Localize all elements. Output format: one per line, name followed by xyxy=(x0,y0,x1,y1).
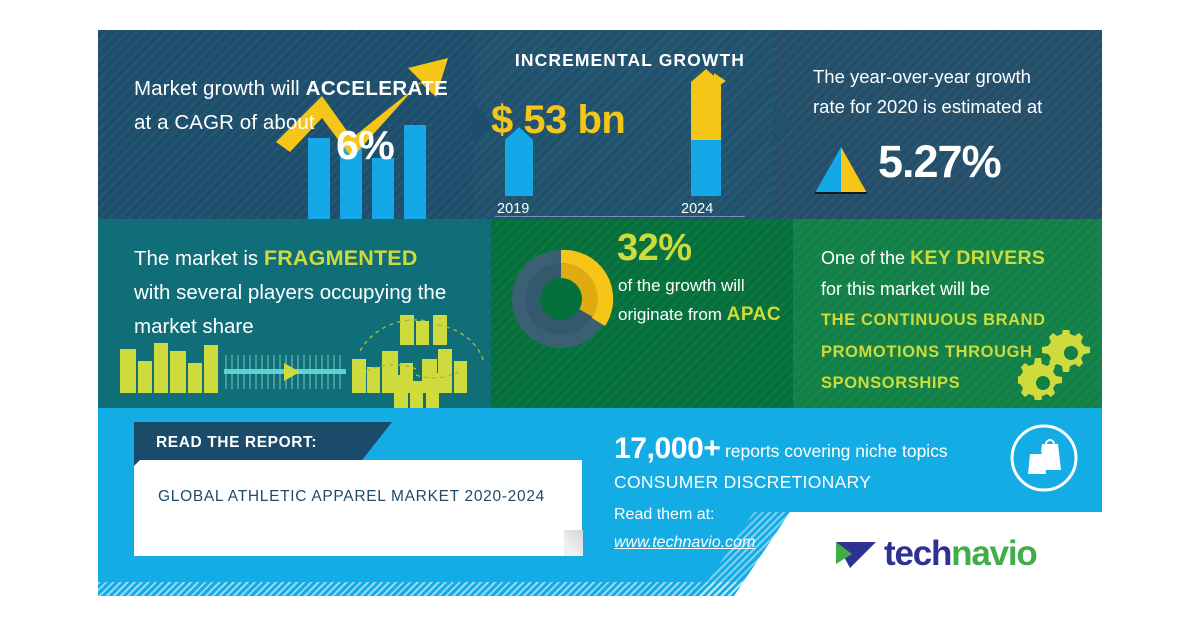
panel-fragmented: The market is FRAGMENTED with several pl… xyxy=(98,219,491,408)
read-them-at-label: Read them at: xyxy=(614,506,715,524)
reports-count-line: 17,000+ reports covering niche topics xyxy=(614,432,948,466)
key-driver-line-1: THE CONTINUOUS BRAND xyxy=(821,311,1046,329)
technavio-logo: tech navio xyxy=(834,534,1037,574)
fragmented-text-b: FRAGMENTED xyxy=(264,246,418,270)
chevron-divider-1 xyxy=(473,30,503,219)
yoy-text-line1: The year-over-year growth xyxy=(813,66,1031,87)
apac-text-a: of the growth will originate from xyxy=(618,276,745,324)
key-drivers-text-a: One of the xyxy=(821,248,910,268)
report-title: GLOBAL ATHLETIC APPAREL MARKET 2020-2024 xyxy=(158,485,558,508)
reports-caption: reports covering niche topics xyxy=(725,441,948,461)
panel-incremental-growth: INCREMENTAL GROWTH $ 53 bn 2019 2024 xyxy=(473,30,773,219)
brand-name-part2: navio xyxy=(951,534,1036,574)
cagr-text-c: at a CAGR of about xyxy=(134,111,315,134)
apac-value: 32% xyxy=(617,227,692,270)
infographic-board: Market growth will ACCELERATE at a CAGR … xyxy=(98,30,1102,596)
report-category: CONSUMER DISCRETIONARY xyxy=(614,472,871,493)
market-fragmentation-icon xyxy=(108,315,491,408)
reports-count: 17,000+ xyxy=(614,432,720,465)
row-middle: The market is FRAGMENTED with several pl… xyxy=(98,219,1102,408)
panel-cagr: Market growth will ACCELERATE at a CAGR … xyxy=(98,30,473,219)
cagr-text: Market growth will ACCELERATE at a CAGR … xyxy=(134,72,464,140)
yoy-value: 5.27% xyxy=(878,136,1001,188)
growth-triangle-icon xyxy=(813,147,869,195)
row-top: Market growth will ACCELERATE at a CAGR … xyxy=(98,30,1102,219)
chevron-divider-2 xyxy=(773,30,803,219)
apac-share-donut-chart xyxy=(499,237,623,361)
bar-2019 xyxy=(505,140,533,196)
yoy-text-line2: rate for 2020 is estimated at xyxy=(813,96,1042,117)
key-driver-line-3: SPONSORSHIPS xyxy=(821,374,960,392)
key-driver-line-2: PROMOTIONS THROUGH xyxy=(821,343,1033,361)
cagr-text-a: Market growth will xyxy=(134,77,306,100)
fragmented-text-a: The market is xyxy=(134,247,264,270)
bar-2024-base xyxy=(691,140,721,196)
brand-name-part1: tech xyxy=(884,534,951,574)
gears-icon xyxy=(1018,330,1094,400)
cagr-text-b: ACCELERATE xyxy=(306,77,449,100)
apac-region: APAC xyxy=(727,304,781,325)
key-drivers-text-c: for this market will be xyxy=(821,279,990,299)
technavio-mark-icon xyxy=(834,538,878,570)
bar-2024-growth xyxy=(691,82,721,140)
yoy-text: The year-over-year growth rate for 2020 … xyxy=(813,62,1083,122)
panel-key-drivers: One of the KEY DRIVERS for this market w… xyxy=(793,219,1102,408)
row-footer: READ THE REPORT: GLOBAL ATHLETIC APPAREL… xyxy=(98,408,1102,596)
panel-apac: 32% of the growth will originate from AP… xyxy=(491,219,793,408)
report-title-card[interactable]: GLOBAL ATHLETIC APPAREL MARKET 2020-2024 xyxy=(134,460,582,556)
cagr-value: 6% xyxy=(336,122,394,169)
axis-label-2024: 2024 xyxy=(681,201,713,217)
apac-text: of the growth will originate from APAC xyxy=(618,271,793,329)
panel-yoy-growth: The year-over-year growth rate for 2020 … xyxy=(773,30,1102,219)
page-fold-corner xyxy=(564,530,583,556)
infographic-canvas: Market growth will ACCELERATE at a CAGR … xyxy=(0,0,1200,627)
shopping-bags-icon xyxy=(1008,422,1080,494)
read-the-report-label: READ THE REPORT: xyxy=(156,434,317,452)
hatch-wedge xyxy=(698,512,818,596)
key-drivers-text-b: KEY DRIVERS xyxy=(910,247,1045,269)
